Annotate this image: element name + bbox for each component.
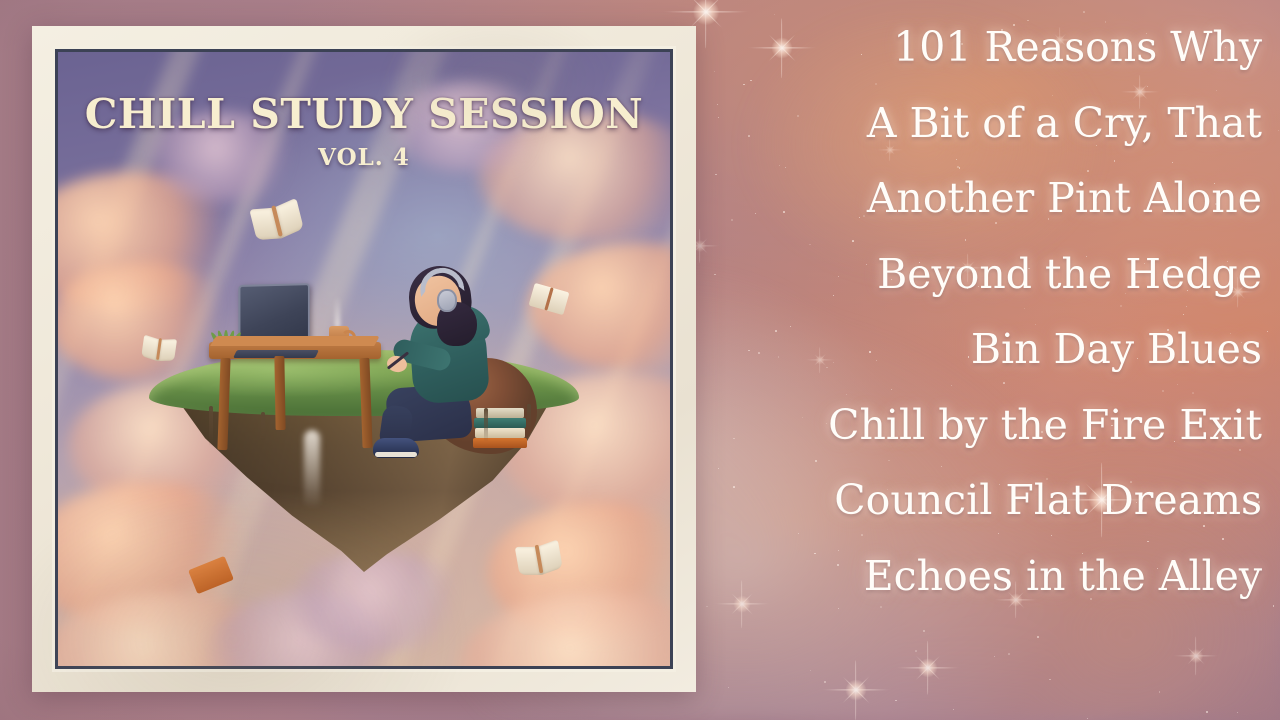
- floating-island: [149, 350, 579, 580]
- stacked-book: [473, 438, 527, 448]
- desk-leg: [217, 358, 230, 450]
- desk-leg: [274, 356, 285, 430]
- album-title: CHILL STUDY SESSION: [58, 90, 670, 138]
- stacked-book: [476, 408, 524, 418]
- stacked-book: [474, 418, 526, 428]
- track-item: Beyond the Hedge: [792, 237, 1262, 313]
- track-item: Echoes in the Alley: [792, 539, 1262, 615]
- track-item: A Bit of a Cry, That: [792, 86, 1262, 162]
- stacked-book: [475, 428, 525, 438]
- island-drip: [261, 412, 265, 440]
- track-item: Another Pint Alone: [792, 161, 1262, 237]
- floating-book: [141, 336, 177, 362]
- tracklist: 101 Reasons WhyA Bit of a Cry, ThatAnoth…: [792, 10, 1262, 614]
- headphones-earcup: [437, 289, 457, 312]
- island-drip: [484, 408, 488, 442]
- album-cover: CHILL STUDY SESSION VOL. 4: [32, 26, 696, 692]
- album-art-frame: CHILL STUDY SESSION VOL. 4: [55, 49, 673, 669]
- desk: [209, 342, 381, 452]
- album-volume: VOL. 4: [58, 144, 670, 171]
- person-shoe: [373, 438, 419, 458]
- island-drip: [209, 406, 213, 446]
- track-item: Council Flat Dreams: [792, 463, 1262, 539]
- album-artwork: CHILL STUDY SESSION VOL. 4: [58, 52, 670, 666]
- track-item: Chill by the Fire Exit: [792, 388, 1262, 464]
- book-stack: [473, 408, 527, 448]
- track-item: Bin Day Blues: [792, 312, 1262, 388]
- island-drip: [527, 404, 531, 428]
- desk-leg: [359, 358, 372, 448]
- mug-steam: [335, 296, 340, 328]
- track-item: 101 Reasons Why: [792, 10, 1262, 86]
